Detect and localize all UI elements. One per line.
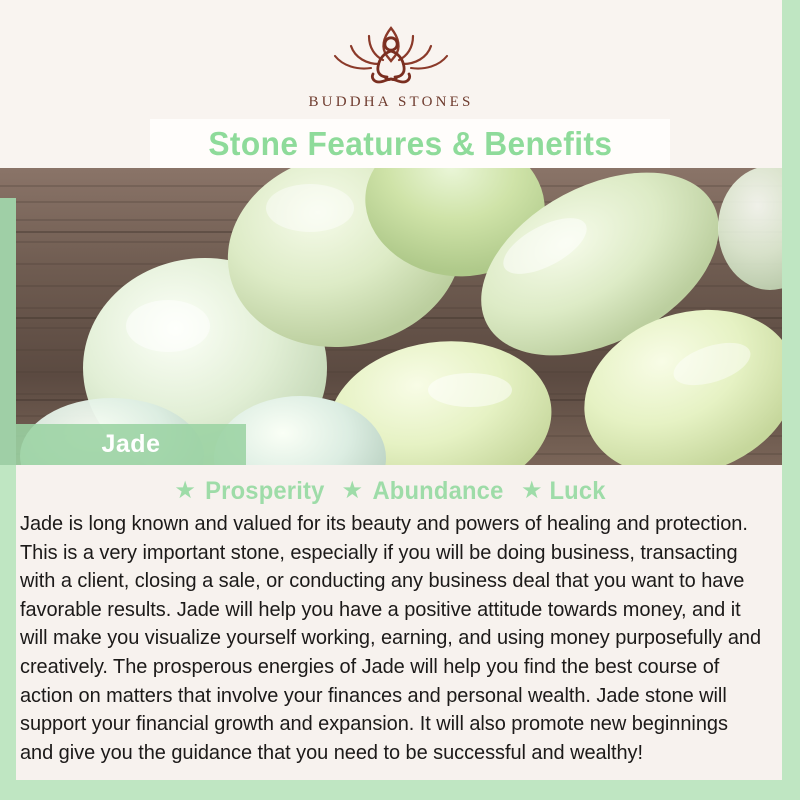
- stone-name-label: Jade: [102, 430, 161, 459]
- benefit-item: ★ Prosperity: [174, 477, 327, 506]
- star-icon: ★: [521, 479, 543, 503]
- brand-wordmark: BUDDHA STONES: [308, 94, 473, 111]
- benefit-item: ★ Abundance: [342, 477, 507, 506]
- benefit-label: Prosperity: [205, 477, 324, 506]
- benefit-item: ★ Luck: [521, 477, 608, 506]
- star-icon: ★: [342, 479, 364, 503]
- benefits-row: ★ Prosperity ★ Abundance ★ Luck: [0, 474, 782, 508]
- star-icon: ★: [174, 479, 196, 503]
- lotus-meditation-icon: [325, 22, 457, 88]
- page-title: Stone Features & Benefits: [208, 127, 612, 160]
- benefit-label: Luck: [550, 477, 606, 506]
- photo-left-accent-bar: [0, 198, 16, 465]
- decorative-border-bottom: [0, 780, 800, 800]
- jade-stones-photo: [0, 168, 782, 465]
- title-banner: Stone Features & Benefits: [150, 119, 670, 168]
- stone-info-poster: BUDDHA STONES Stone Features & Benefits: [0, 0, 800, 800]
- stone-name-chip: Jade: [16, 424, 246, 465]
- decorative-border-right: [782, 0, 800, 800]
- benefit-label: Abundance: [372, 477, 503, 506]
- description-text: Jade is long known and valued for its be…: [20, 510, 765, 767]
- description-block: Jade is long known and valued for its be…: [16, 510, 782, 767]
- brand-header: BUDDHA STONES: [0, 0, 782, 120]
